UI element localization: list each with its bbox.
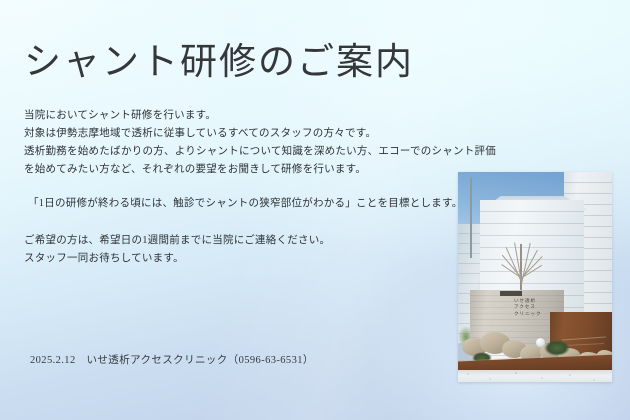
footer-clinic-info: 2025.2.12 いせ透析アクセスクリニック（0596-63-6531）	[30, 352, 314, 367]
text-line: 「1日の研修が終わる頃には、触診でシャントの狭窄部位がわかる」ことを目標とします…	[28, 195, 484, 213]
photo-tree-trunk	[520, 244, 522, 296]
text-line: を始めてみたい方など、それぞれの要望をお聞きして研修を行います。	[24, 161, 484, 179]
photo-shrub	[544, 340, 570, 356]
body-text: 当院においてシャント研修を行います。 対象は伊勢志摩地域で透析に従事しているすべ…	[24, 107, 484, 268]
text-line: 当院においてシャント研修を行います。	[24, 107, 484, 125]
photo-sign-slot	[500, 291, 522, 296]
clinic-exterior-photo: いせ透析 アクセス クリニック	[458, 172, 612, 382]
paragraph-contact: ご希望の方は、希望日の1週間前までに当院にご連絡ください。 スタッフ一同お待ちし…	[24, 232, 484, 268]
photo-utility-pole	[470, 178, 472, 258]
page-title: シャント研修のご案内	[24, 40, 414, 86]
text-line: ご希望の方は、希望日の1週間前までに当院にご連絡ください。	[24, 232, 484, 250]
text-line: スタッフ一同お待ちしています。	[24, 250, 484, 268]
text-line: 透析勤務を始めたばかりの方、よりシャントについて知識を深めたい方、エコーでのシャ…	[24, 143, 484, 161]
paragraph-intro: 当院においてシャント研修を行います。 対象は伊勢志摩地域で透析に従事しているすべ…	[24, 107, 484, 179]
photo-gravel-texture	[458, 370, 612, 382]
text-line: 対象は伊勢志摩地域で透析に従事しているすべてのスタッフの方々です。	[24, 125, 484, 143]
announcement-poster: シャント研修のご案内 当院においてシャント研修を行います。 対象は伊勢志摩地域で…	[0, 0, 630, 420]
paragraph-goal: 「1日の研修が終わる頃には、触診でシャントの狭窄部位がわかる」ことを目標とします…	[24, 195, 484, 213]
